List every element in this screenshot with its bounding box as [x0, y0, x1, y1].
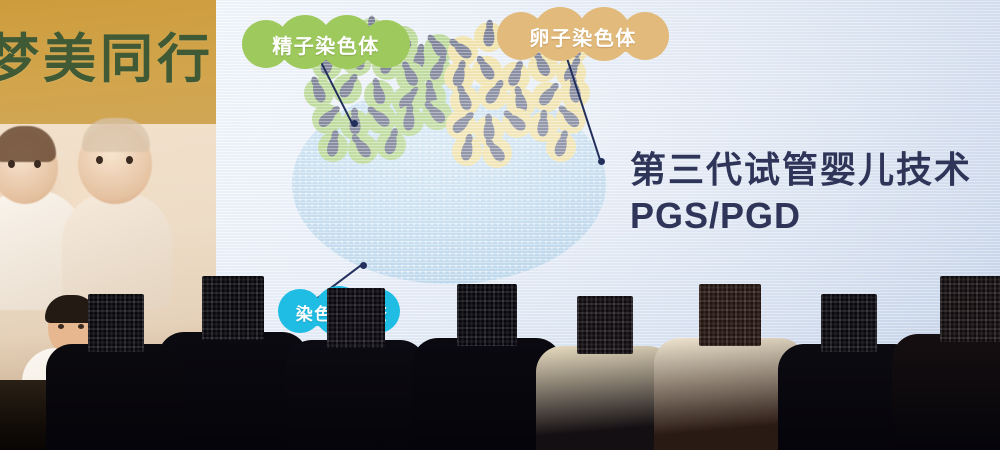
audience-foreground [0, 290, 1000, 450]
chromosome-glyph [553, 135, 569, 157]
chromosome-egg [546, 132, 576, 162]
chromosome-glyph [456, 89, 473, 112]
audience-person-head-blurred [202, 276, 264, 340]
chromosome-egg [452, 136, 482, 166]
chromosome-glyph [370, 108, 392, 129]
label-sperm-text: 精子染色体 [272, 30, 380, 59]
chromosome-sperm [312, 104, 342, 134]
audience-person-head-blurred [821, 294, 877, 352]
audience-person [46, 260, 186, 450]
label-egg-chromosome[interactable]: 卵子染色体 [511, 20, 655, 52]
chromosome-glyph [310, 81, 327, 104]
audience-person [286, 270, 426, 450]
chromosome-glyph [487, 141, 508, 164]
chromosome-glyph [402, 65, 421, 88]
chromosome-glyph [450, 114, 472, 136]
chromosome-glyph [316, 108, 338, 130]
audience-person-head-blurred [577, 296, 633, 354]
chromosome-glyph [460, 140, 474, 162]
chromosome-sperm [376, 130, 406, 160]
audience-person-body [46, 344, 186, 450]
label-sperm-chromosome[interactable]: 精子染色体 [256, 28, 396, 60]
audience-person-head-blurred [699, 284, 761, 346]
chromosome-glyph [426, 104, 448, 126]
chromosome-glyph [536, 85, 557, 107]
chromosome-glyph [483, 26, 495, 47]
banner-baby-right-eye-2 [126, 156, 133, 164]
chromosome-sperm [332, 74, 362, 104]
headline-line-1: 第三代试管婴儿技术 [630, 148, 972, 191]
chromosome-egg [482, 138, 512, 168]
leader-dot-egg [598, 158, 605, 165]
audience-person-body [892, 334, 1000, 450]
chromosome-glyph [506, 65, 523, 88]
chromosome-glyph [506, 112, 528, 133]
chromosome-sperm [318, 132, 348, 162]
audience-person-body [286, 340, 426, 450]
leader-dot-sperm [351, 120, 358, 127]
slide-headline: 第三代试管婴儿技术 PGS/PGD [630, 148, 972, 238]
chromosome-glyph [371, 84, 387, 106]
chromosome-sperm [348, 134, 378, 164]
chromosome-glyph [353, 137, 374, 160]
headline-line-2: PGS/PGD [630, 193, 972, 238]
chromosome-glyph [326, 136, 340, 158]
audience-person-head-blurred [457, 284, 517, 346]
chromosome-glyph [537, 116, 549, 137]
screenshot-root: 梦美同行 [0, 0, 1000, 450]
audience-person-head-blurred [327, 288, 385, 348]
banner-baby-right-eye-1 [96, 156, 103, 164]
chromosome-egg [478, 80, 508, 110]
chromosome-glyph [483, 83, 503, 106]
audience-person-head-blurred [88, 294, 144, 352]
banner-baby-right-hair [82, 118, 150, 152]
banner-baby-left-eye-1 [8, 160, 15, 168]
audience-person-head-blurred [940, 276, 1000, 342]
chromosome-glyph [560, 108, 582, 130]
leader-dot-other [360, 262, 367, 269]
banner-baby-left-eye-2 [34, 160, 41, 168]
chromosome-glyph [383, 133, 399, 155]
banner-title: 梦美同行 [0, 32, 216, 88]
chromosome-glyph [477, 59, 497, 82]
audience-person [892, 266, 1000, 450]
banner-baby-left-hair [0, 126, 56, 162]
chromosome-glyph [403, 110, 415, 131]
label-egg-text: 卵子染色体 [529, 22, 637, 51]
chromosome-glyph [452, 40, 474, 61]
